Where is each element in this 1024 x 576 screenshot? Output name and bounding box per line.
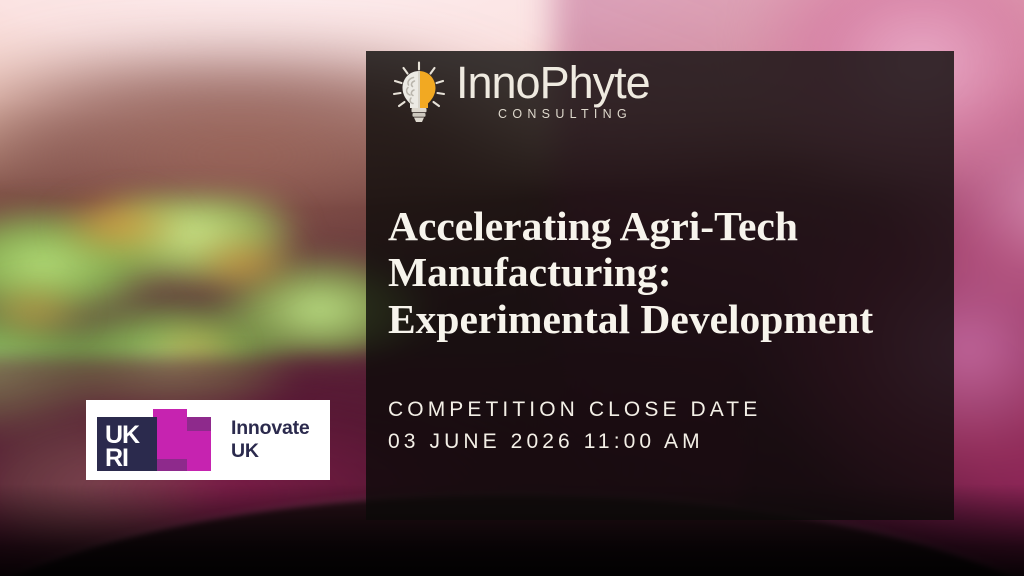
brand-tagline: CONSULTING [498, 107, 650, 121]
innovate-uk-line-1: Innovate [231, 417, 310, 440]
brand-name: InnoPhyte [456, 61, 650, 105]
headline-line-2: Manufacturing: [388, 249, 940, 295]
ukri-logo-icon: UK RI [97, 409, 219, 471]
competition-close-block: COMPETITION CLOSE DATE 03 JUNE 2026 11:0… [388, 394, 761, 458]
headline-line-1: Accelerating Agri-Tech [388, 203, 940, 249]
innovate-uk-name: Innovate UK [231, 417, 310, 463]
innovate-uk-line-2: UK [231, 440, 310, 463]
ukri-mark-line-2: RI [105, 444, 128, 471]
content-overlay-panel: InnoPhyte CONSULTING Accelerating Agri-T… [366, 51, 954, 520]
page-title: Accelerating Agri-Tech Manufacturing: Ex… [388, 203, 940, 342]
innophyte-wordmark: InnoPhyte CONSULTING [456, 61, 650, 121]
headline-line-3: Experimental Development [388, 296, 940, 342]
competition-close-date: 03 JUNE 2026 11:00 AM [388, 426, 761, 458]
innovate-uk-logo-card: UK RI Innovate UK [86, 400, 330, 480]
promo-banner: InnoPhyte CONSULTING Accelerating Agri-T… [0, 0, 1024, 576]
competition-close-label: COMPETITION CLOSE DATE [388, 394, 761, 426]
innophyte-logo: InnoPhyte CONSULTING [388, 59, 650, 125]
lightbulb-brain-icon [388, 59, 450, 125]
